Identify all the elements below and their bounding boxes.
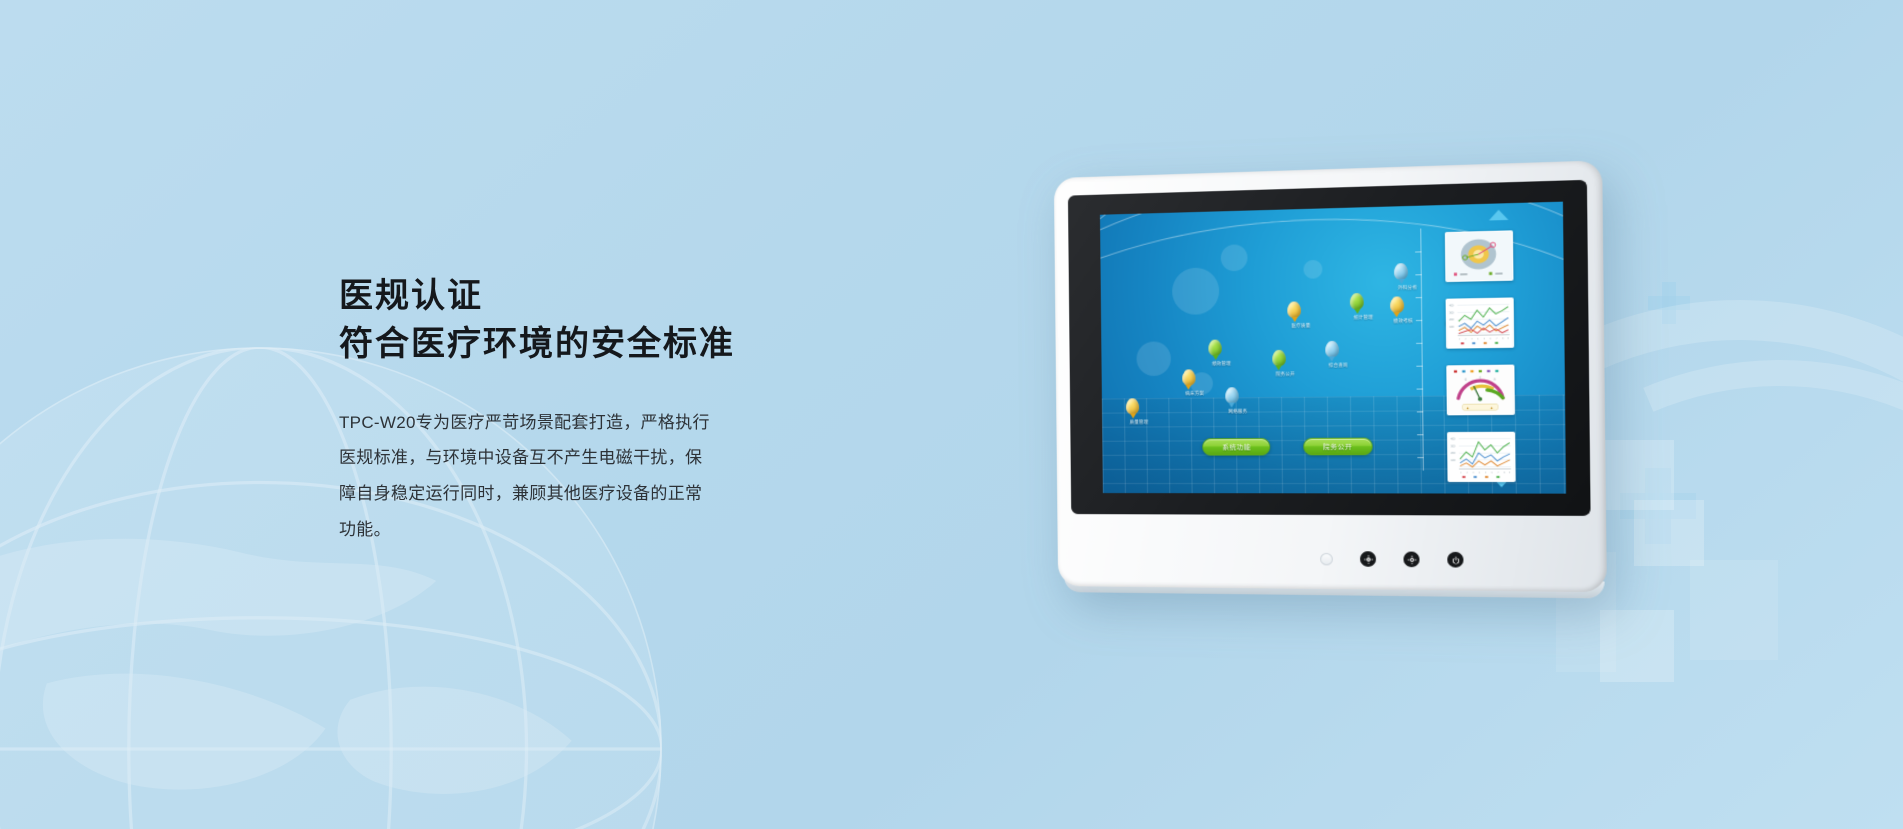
rail-tick bbox=[1416, 343, 1422, 344]
device-bezel: 质量管理病床方案网络服务绩效管理院务公开医疗质量综合查询统计管理绩效考核外科分析… bbox=[1068, 180, 1591, 516]
rail-tick bbox=[1416, 366, 1422, 367]
rail-tick bbox=[1417, 434, 1423, 435]
rail-thumbnail-donut-gauge[interactable] bbox=[1445, 230, 1514, 282]
device-control-row bbox=[1320, 551, 1463, 568]
page-title: 医规认证 bbox=[339, 272, 809, 320]
screen-marker[interactable]: 外科分析 bbox=[1394, 264, 1408, 292]
paragraph-line: 功能。 bbox=[339, 512, 791, 548]
svg-text:400: 400 bbox=[1449, 304, 1454, 307]
screen-marker[interactable]: 院务公开 bbox=[1272, 350, 1286, 378]
marker-label: 绩效考核 bbox=[1393, 318, 1400, 324]
svg-text:300: 300 bbox=[1451, 445, 1456, 448]
paragraph-line: TPC-W20专为医疗严苛场景配套打造，严格执行 bbox=[339, 405, 791, 441]
marker-label: 绩效管理 bbox=[1212, 361, 1219, 367]
marker-pin-icon bbox=[1325, 341, 1339, 358]
marker-pin-icon bbox=[1182, 369, 1195, 385]
bokeh-decoration bbox=[1137, 342, 1172, 377]
banner-slide: 医规认证 符合医疗环境的安全标准 TPC-W20专为医疗严苛场景配套打造，严格执… bbox=[0, 0, 1903, 829]
marker-pin-icon bbox=[1208, 340, 1221, 356]
rail-tick bbox=[1416, 297, 1422, 298]
rail-tick bbox=[1416, 320, 1422, 321]
medical-cross-icon bbox=[1648, 282, 1690, 324]
rail-tick bbox=[1415, 274, 1421, 275]
screen-marker[interactable]: 病床方案 bbox=[1182, 369, 1196, 397]
marker-label: 统计管理 bbox=[1354, 315, 1361, 321]
screen-marker[interactable]: 医疗质量 bbox=[1288, 301, 1302, 329]
marker-label: 外科分析 bbox=[1398, 285, 1405, 291]
marker-pin-icon bbox=[1394, 264, 1408, 281]
marker-label: 综合查询 bbox=[1329, 362, 1336, 368]
svg-text:100: 100 bbox=[1451, 459, 1456, 462]
rail-tick bbox=[1415, 251, 1421, 252]
brightness-down-button[interactable] bbox=[1360, 551, 1376, 567]
decorative-block bbox=[1600, 440, 1674, 510]
decorative-block bbox=[1600, 610, 1674, 682]
screen-marker[interactable]: 质量管理 bbox=[1126, 398, 1139, 425]
bokeh-decoration bbox=[1303, 260, 1322, 279]
rail-tick bbox=[1417, 411, 1423, 412]
svg-text:200: 200 bbox=[1451, 452, 1456, 455]
marker-pin-icon bbox=[1272, 350, 1286, 367]
screen-marker[interactable]: 网络服务 bbox=[1225, 387, 1239, 415]
screen-button-system-function[interactable]: 系统功能 bbox=[1203, 438, 1271, 456]
screen-button-public-affairs[interactable]: 院务公开 bbox=[1303, 437, 1372, 455]
background-decoration bbox=[0, 0, 1903, 829]
screen-marker[interactable]: 统计管理 bbox=[1350, 293, 1364, 321]
rail-tick bbox=[1417, 389, 1423, 390]
device-screen[interactable]: 质量管理病床方案网络服务绩效管理院务公开医疗质量综合查询统计管理绩效考核外科分析… bbox=[1100, 202, 1566, 494]
paragraph-line: 障自身稳定运行同时，兼顾其他医疗设备的正常 bbox=[339, 476, 791, 512]
brightness-up-button[interactable] bbox=[1403, 552, 1419, 568]
decorative-block bbox=[1634, 500, 1704, 566]
power-button[interactable] bbox=[1447, 552, 1463, 568]
copy-block: 医规认证 符合医疗环境的安全标准 TPC-W20专为医疗严苛场景配套打造，严格执… bbox=[339, 272, 809, 547]
rail-tick bbox=[1417, 457, 1423, 458]
svg-text:100: 100 bbox=[1449, 325, 1454, 328]
rail-thumbnail-line-chart[interactable]: 400300 200100 123 456 789 bbox=[1446, 297, 1515, 348]
screen-marker[interactable]: 综合查询 bbox=[1325, 341, 1339, 369]
marker-label: 网络服务 bbox=[1228, 409, 1235, 415]
svg-text:300: 300 bbox=[1449, 311, 1454, 314]
led-indicator bbox=[1320, 552, 1333, 564]
bokeh-decoration bbox=[1221, 244, 1248, 271]
body-paragraph: TPC-W20专为医疗严苛场景配套打造，严格执行 医规标准，与环境中设备互不产生… bbox=[339, 405, 791, 548]
marker-pin-icon bbox=[1126, 398, 1139, 414]
svg-text:400: 400 bbox=[1451, 438, 1456, 441]
marker-label: 院务公开 bbox=[1276, 372, 1283, 378]
medical-panel-pc: 质量管理病床方案网络服务绩效管理院务公开医疗质量综合查询统计管理绩效考核外科分析… bbox=[1054, 160, 1607, 592]
svg-text:200: 200 bbox=[1449, 318, 1454, 321]
marker-pin-icon bbox=[1225, 387, 1239, 403]
chevron-up-icon[interactable] bbox=[1489, 209, 1509, 220]
rail-thumbnail-speed-gauge[interactable]: 低中高 ◆◆ bbox=[1446, 365, 1515, 416]
screen-side-rail: 监控图 曲线图 入院统计 住院趋势 bbox=[1438, 206, 1563, 489]
paragraph-line: 医规标准，与环境中设备互不产生电磁干扰，保 bbox=[339, 440, 791, 476]
page-subtitle: 符合医疗环境的安全标准 bbox=[339, 320, 809, 368]
bokeh-decoration bbox=[1172, 268, 1219, 316]
screen-marker[interactable]: 绩效管理 bbox=[1208, 340, 1222, 368]
medical-cross-icon bbox=[1620, 468, 1696, 544]
marker-pin-icon bbox=[1350, 293, 1364, 310]
marker-label: 医疗质量 bbox=[1291, 323, 1298, 329]
decorative-block bbox=[1690, 560, 1778, 660]
marker-label: 病床方案 bbox=[1185, 391, 1192, 397]
marker-pin-icon bbox=[1390, 297, 1404, 314]
rail-thumbnail-trend-chart[interactable]: 400300 200100 123 456 789 bbox=[1447, 432, 1516, 482]
screen-marker[interactable]: 绩效考核 bbox=[1390, 297, 1404, 325]
marker-pin-icon bbox=[1288, 301, 1302, 318]
marker-label: 质量管理 bbox=[1130, 419, 1137, 425]
